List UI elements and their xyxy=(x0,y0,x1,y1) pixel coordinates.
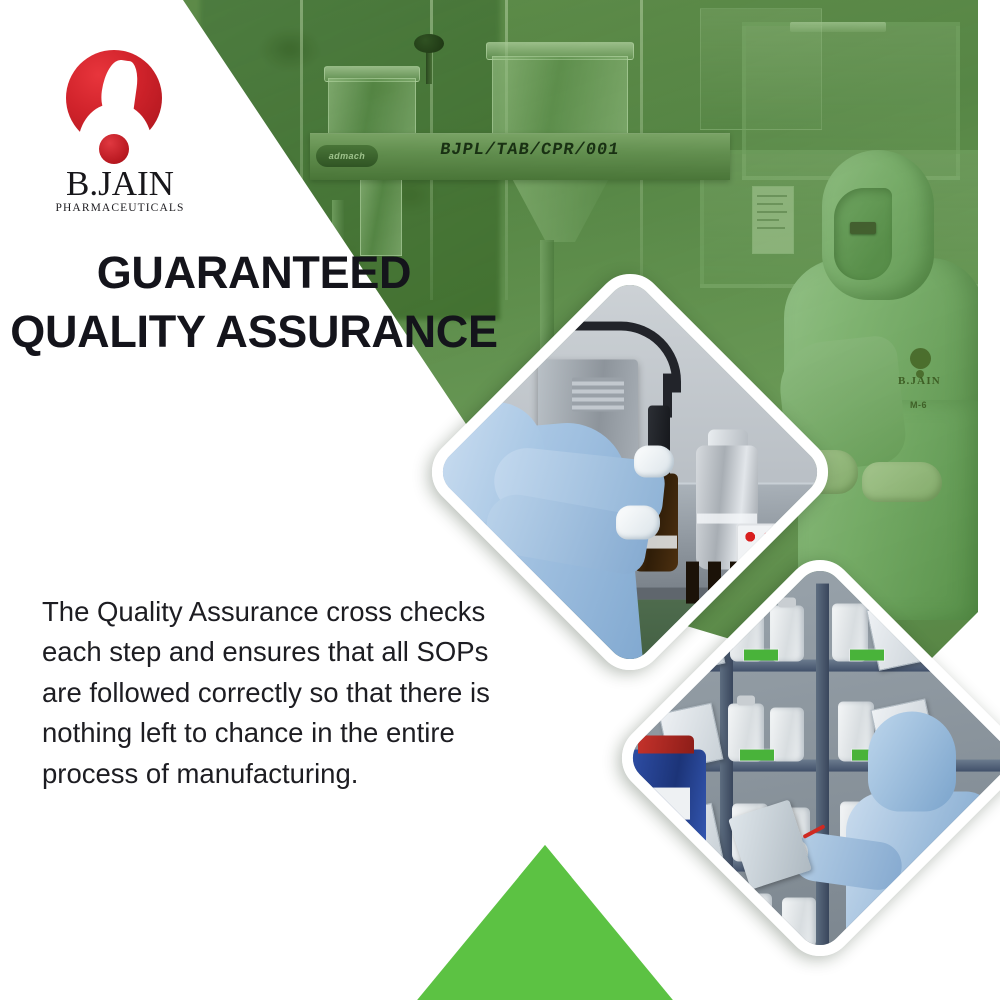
rack-post xyxy=(720,584,733,971)
storage-jug xyxy=(734,894,772,948)
storage-jug xyxy=(782,898,816,948)
headline-line-2: QUALITY ASSURANCE xyxy=(0,302,508,361)
technician-glove xyxy=(634,446,674,478)
logo-dot-mark xyxy=(99,134,129,164)
status-tag xyxy=(746,936,780,947)
headline: GUARANTEED QUALITY ASSURANCE xyxy=(0,243,508,362)
bottom-accent-triangle xyxy=(380,845,710,1000)
jug-cap xyxy=(778,598,796,608)
jug-cap xyxy=(737,696,755,706)
poster-canvas: admach BJPL/TAB/CPR/001 B.JAIN M-6 xyxy=(0,0,1000,1000)
logo-tagline: PHARMACEUTICALS xyxy=(50,202,190,214)
status-tag xyxy=(744,650,778,661)
blue-chemical-drum xyxy=(628,750,706,862)
status-tag xyxy=(850,650,884,661)
stool-post xyxy=(540,614,554,685)
cardboard-carton xyxy=(628,884,708,948)
metal-can-label xyxy=(697,514,757,524)
technician-hood xyxy=(868,712,956,812)
drum-lid xyxy=(638,736,694,754)
metal-container xyxy=(696,446,758,570)
headline-line-1: GUARANTEED xyxy=(97,247,412,298)
body-paragraph: The Quality Assurance cross checks each … xyxy=(42,592,532,794)
drum-label xyxy=(640,788,690,820)
technician-glove xyxy=(616,506,660,540)
logo-wordmark: B.JAIN xyxy=(50,166,190,201)
rack-post xyxy=(816,584,829,971)
storage-jug xyxy=(770,708,804,762)
brand-logo[interactable]: B.JAIN PHARMACEUTICALS xyxy=(50,50,190,190)
warehouse-technician xyxy=(846,712,996,971)
cardboard-carton xyxy=(922,864,1000,934)
status-tag xyxy=(740,750,774,761)
